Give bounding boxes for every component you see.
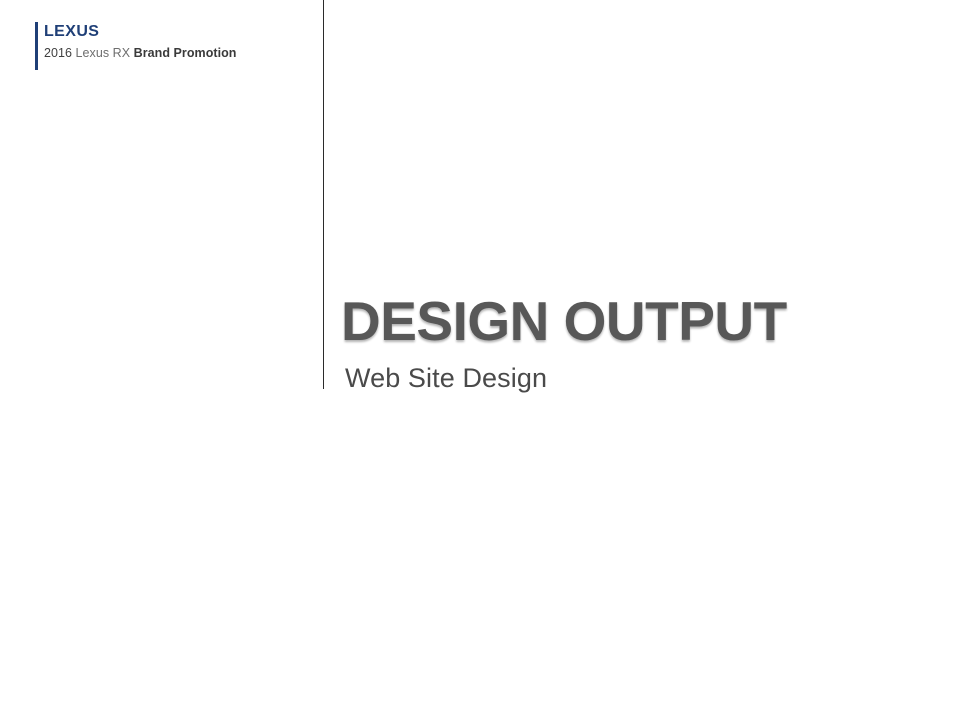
brand-tagline-year: 2016 bbox=[44, 46, 76, 60]
brand-tagline-rest: Brand Promotion bbox=[134, 46, 237, 60]
brand-tagline-model: Lexus RX bbox=[76, 46, 134, 60]
brand-accent-bar bbox=[35, 22, 38, 70]
brand-block: LEXUS 2016 Lexus RX Brand Promotion bbox=[35, 22, 295, 70]
presentation-slide: LEXUS 2016 Lexus RX Brand Promotion DESI… bbox=[0, 0, 980, 710]
vertical-divider bbox=[323, 0, 324, 389]
brand-tagline: 2016 Lexus RX Brand Promotion bbox=[44, 45, 237, 62]
slide-subtitle: Web Site Design bbox=[341, 362, 941, 394]
slide-title: DESIGN OUTPUT bbox=[341, 290, 941, 352]
title-block: DESIGN OUTPUT Web Site Design bbox=[341, 290, 941, 394]
brand-logo-text: LEXUS bbox=[44, 22, 99, 42]
